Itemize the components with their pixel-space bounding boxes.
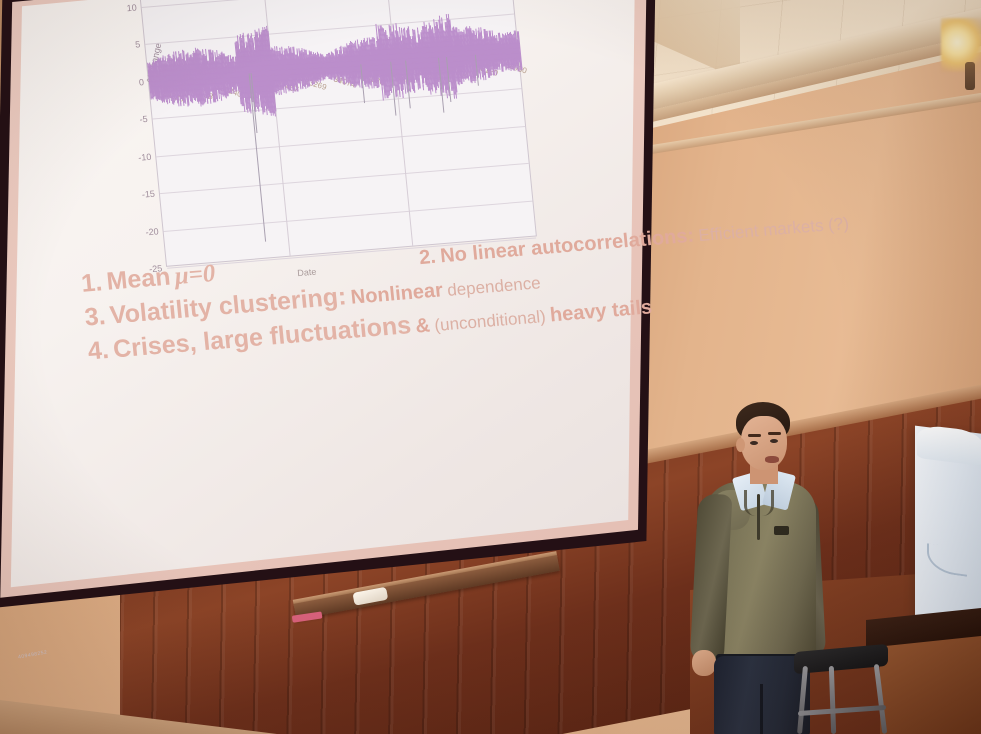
y-tick-label: 0 [138, 77, 144, 87]
bullet-2-sep: : [686, 225, 695, 247]
wall-lamp-icon [941, 18, 981, 72]
bullet-3-rest: dependence [446, 273, 541, 300]
gridline [156, 126, 525, 157]
mouth [765, 456, 779, 463]
eyebrow-right [768, 432, 781, 435]
bullet-3-sep: : [337, 282, 348, 311]
bullet-4-amp: & [415, 314, 432, 337]
bullet-1-math: μ=0 [173, 260, 216, 290]
bullet-3-mid: Nonlinear [350, 279, 444, 308]
stool-footrest [798, 705, 886, 716]
trouser-seam [760, 684, 763, 734]
stool-leg-3 [874, 664, 887, 734]
gridline [160, 163, 529, 194]
wall-lamp-bracket [965, 62, 975, 90]
photo-scene: Stylized Facts of Real-World Returns Dai… [0, 0, 981, 734]
plot-area: 151050-5-10-15-20-25 % change 2922330038… [137, 0, 537, 267]
gridline [164, 200, 533, 231]
y-tick-label: -20 [145, 226, 159, 237]
projected-slide: Stylized Facts of Real-World Returns Dai… [42, 0, 681, 462]
stool-leg-2 [829, 666, 836, 734]
bullet-4-paren: (unconditional) [434, 307, 547, 335]
y-tick-label: -10 [138, 151, 152, 162]
ear [736, 438, 745, 452]
bullet-3-num: 3. [83, 302, 107, 332]
projection-screen: Stylized Facts of Real-World Returns Dai… [0, 0, 720, 680]
bullet-1-num: 1. [80, 268, 104, 298]
bullet-2-num: 2. [418, 246, 437, 269]
face [741, 416, 787, 470]
bullet-4-num: 4. [87, 336, 111, 366]
eyebrow-left [748, 434, 761, 437]
chest-logo [774, 526, 789, 535]
y-tick-label: 5 [135, 39, 141, 49]
y-tick-label: -15 [141, 189, 155, 200]
eye-left [750, 441, 758, 445]
bullet-4-rest: heavy tails [549, 296, 653, 326]
eye-right [770, 439, 778, 443]
y-tick-label: -5 [139, 114, 148, 125]
stool-leg-1 [797, 666, 808, 734]
y-tick-label: 10 [126, 2, 137, 13]
gridline [142, 0, 511, 8]
bullet-1-strong: Mean [105, 263, 171, 296]
zipper [757, 494, 760, 540]
stool [786, 648, 896, 734]
